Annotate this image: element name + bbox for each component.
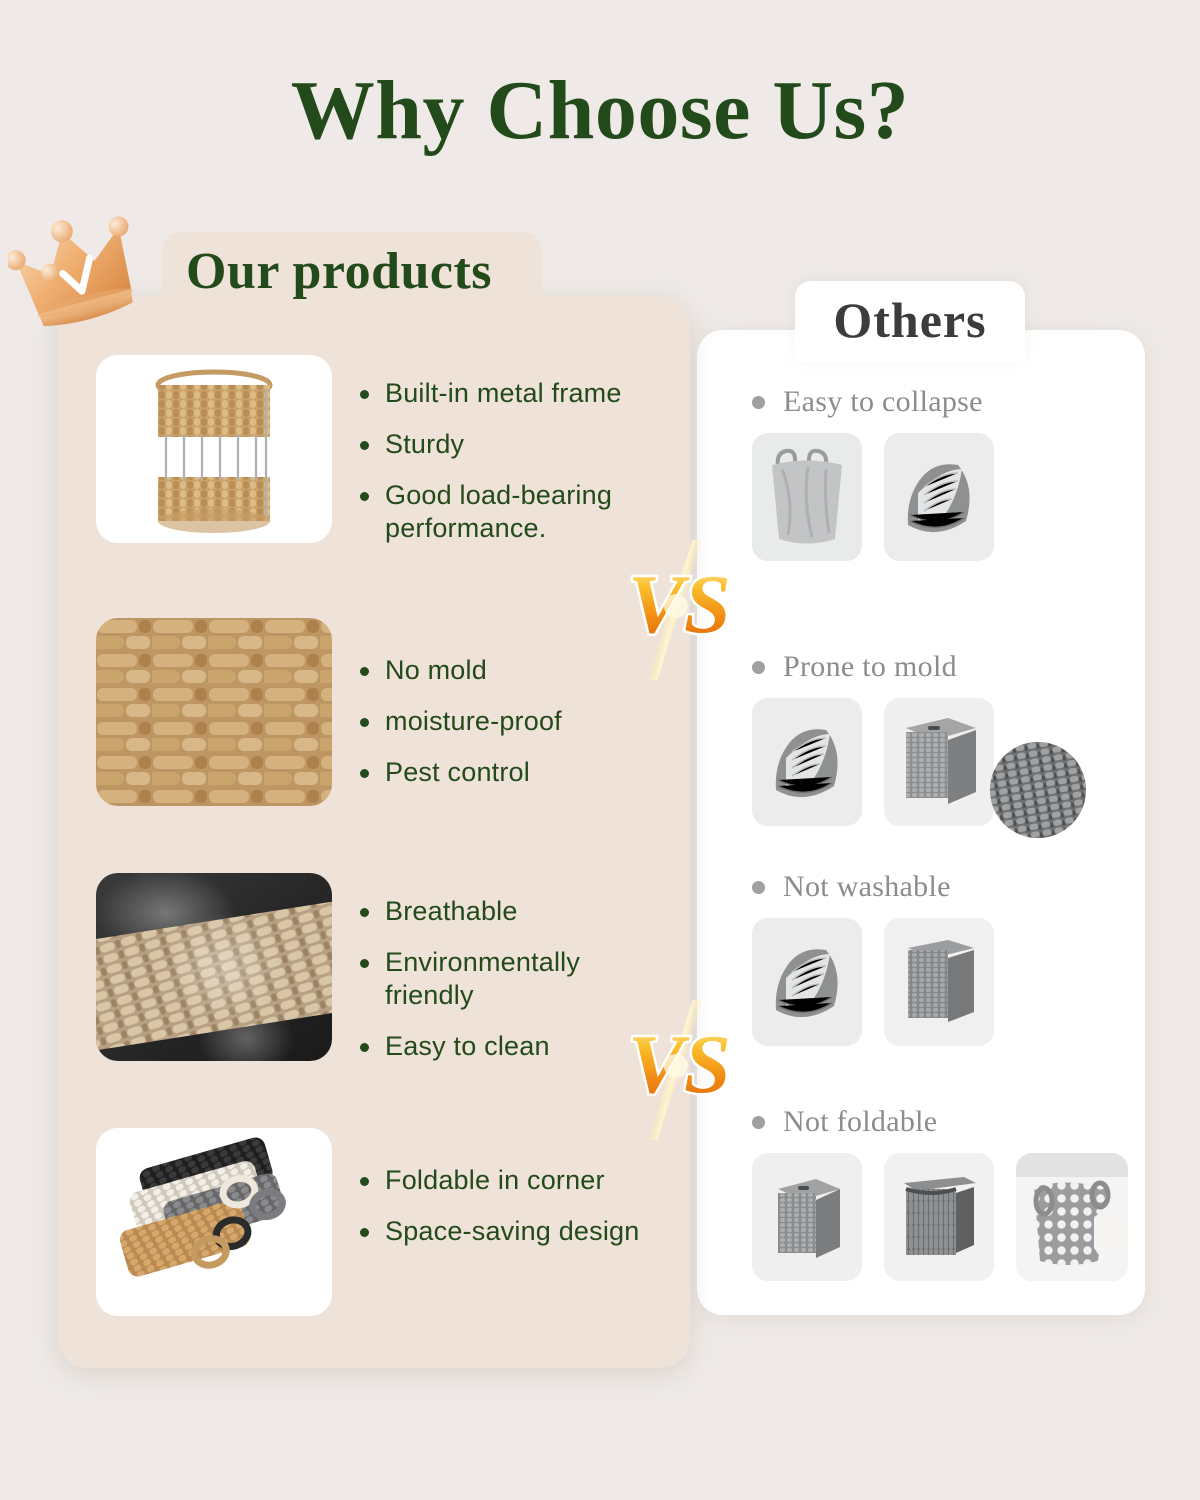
collapsed-woven-hamper-photo <box>752 918 862 1046</box>
our-products-row: Breathable Environmentally friendly Easy… <box>96 873 676 1063</box>
bullet-item: moisture-proof <box>360 705 676 738</box>
bullet-label: Space-saving design <box>385 1215 639 1248</box>
others-image-group <box>752 918 1132 1046</box>
bullet-dot-icon <box>752 881 765 894</box>
moldy-weave-closeup-photo <box>990 742 1086 838</box>
others-row-header: Easy to collapse <box>752 385 1132 419</box>
others-image-group <box>752 1153 1132 1281</box>
others-row-header: Not washable <box>752 870 1132 904</box>
bullet-dot-icon <box>360 1228 369 1237</box>
bullet-item: Sturdy <box>360 428 676 461</box>
perforated-plastic-basket-photo <box>1016 1153 1128 1281</box>
others-row-label: Prone to mold <box>783 650 957 684</box>
others-tab: Others <box>795 281 1025 363</box>
woven-rattan-texture-closeup-photo <box>96 618 332 806</box>
collapsed-woven-hamper-photo <box>752 698 862 826</box>
bullet-dot-icon <box>360 718 369 727</box>
bullet-dot-icon <box>752 661 765 674</box>
bullet-dot-icon <box>752 1116 765 1129</box>
gray-woven-hamper-lid-photo <box>752 1153 862 1281</box>
bullet-item: Built-in metal frame <box>360 377 676 410</box>
others-image-group <box>752 433 1132 561</box>
our-products-bullet-list: Built-in metal frame Sturdy Good load-be… <box>360 355 676 545</box>
bullet-dot-icon <box>360 441 369 450</box>
our-products-row: Built-in metal frame Sturdy Good load-be… <box>96 355 676 545</box>
bullet-label: No mold <box>385 654 487 687</box>
bullet-item: Good load-bearing performance. <box>360 479 676 545</box>
bullet-item: Space-saving design <box>360 1215 676 1248</box>
bullet-label: Foldable in corner <box>385 1164 605 1197</box>
bullet-dot-icon <box>360 1177 369 1186</box>
bullet-dot-icon <box>360 390 369 399</box>
others-row-header: Prone to mold <box>752 650 1132 684</box>
our-products-tab: Our products <box>162 232 542 310</box>
gray-woven-hamper-lid-photo <box>884 698 994 826</box>
breathable-basket-steam-photo <box>96 873 332 1061</box>
bullet-label: Pest control <box>385 756 530 789</box>
crown-icon <box>8 205 168 330</box>
bullet-item: Foldable in corner <box>360 1164 676 1197</box>
others-image-group <box>752 698 1132 826</box>
bullet-label: Sturdy <box>385 428 464 461</box>
others-row-label: Easy to collapse <box>783 385 983 419</box>
bullet-dot-icon <box>360 908 369 917</box>
others-row: Prone to mold <box>752 650 1132 826</box>
gray-woven-hamper-photo <box>884 918 994 1046</box>
our-products-row: Foldable in corner Space-saving design <box>96 1128 676 1316</box>
woven-basket-metal-frame-photo <box>96 355 332 543</box>
bullet-label: Breathable <box>385 895 518 928</box>
our-products-tab-label: Our products <box>186 242 492 301</box>
bullet-dot-icon <box>752 396 765 409</box>
collapsed-woven-hamper-photo <box>884 433 994 561</box>
our-products-row: No mold moisture-proof Pest control <box>96 618 676 806</box>
bullet-label: moisture-proof <box>385 705 562 738</box>
bullet-label: Built-in metal frame <box>385 377 622 410</box>
bullet-label: Easy to clean <box>385 1030 550 1063</box>
vs-badge-top: VS <box>622 540 732 680</box>
folded-baskets-stack-photo <box>96 1128 332 1316</box>
bullet-dot-icon <box>360 492 369 501</box>
vs-badge-bottom: VS <box>622 1000 732 1140</box>
others-row: Easy to collapse <box>752 385 1132 561</box>
gray-fabric-hamper-photo <box>752 433 862 561</box>
bullet-dot-icon <box>360 769 369 778</box>
tall-wicker-hamper-photo <box>884 1153 994 1281</box>
others-row-label: Not foldable <box>783 1105 937 1139</box>
others-row: Not foldable <box>752 1105 1132 1281</box>
bullet-label: Good load-bearing performance. <box>385 479 676 545</box>
bullet-dot-icon <box>360 959 369 968</box>
page-title: Why Choose Us? <box>0 62 1200 159</box>
bullet-item: Pest control <box>360 756 676 789</box>
others-row-header: Not foldable <box>752 1105 1132 1139</box>
bullet-dot-icon <box>360 667 369 676</box>
bullet-dot-icon <box>360 1043 369 1052</box>
others-tab-label: Others <box>833 291 986 353</box>
bullet-item: Breathable <box>360 895 676 928</box>
our-products-bullet-list: Foldable in corner Space-saving design <box>360 1128 676 1248</box>
why-choose-us-infographic: Why Choose Us? Others Our products <box>0 0 1200 1500</box>
others-row-label: Not washable <box>783 870 951 904</box>
others-row: Not washable <box>752 870 1132 1046</box>
